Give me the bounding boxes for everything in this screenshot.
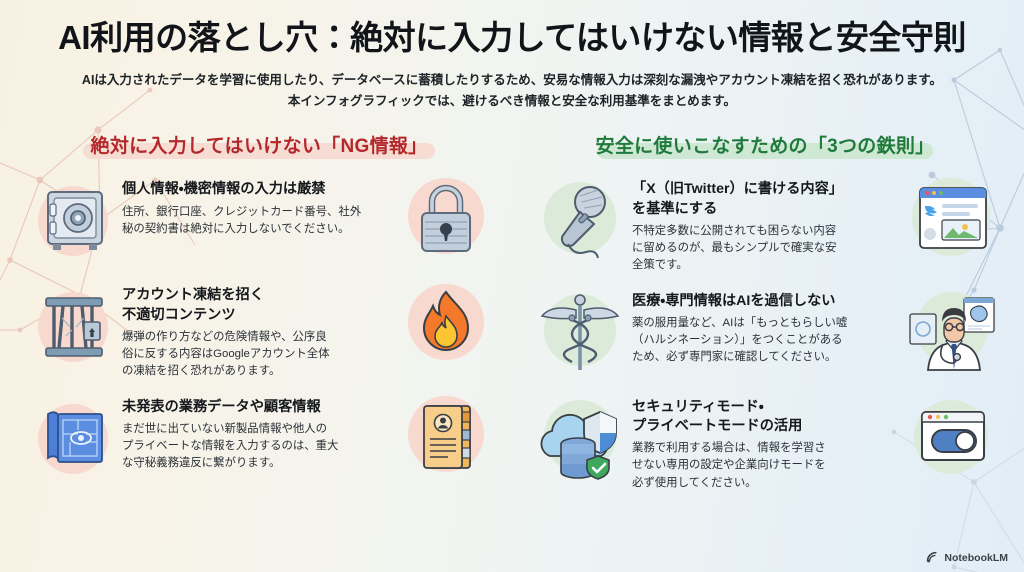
list-item: セキュリティモード・ プライベートモードの活用 業務で利用する場合は、情報を学習… xyxy=(532,390,998,492)
blueprint-icon xyxy=(26,390,122,486)
item-text: 医療・専門情報はAIを過信しない 薬の服用量など、AIは「もっともらしい嘘 （ハ… xyxy=(628,284,906,367)
column-heading-rules: 安全に使いこなすための「3つの鉄則」 xyxy=(532,131,998,158)
list-item: 「X（旧Twitter）に書ける内容」 を基準にする 不特定多数に公開されても困… xyxy=(532,172,998,274)
footer-watermark: NotebookLM xyxy=(926,551,1008,564)
list-item: 医療・専門情報はAIを過信しない 薬の服用量など、AIは「もっともらしい嘘 （ハ… xyxy=(532,284,998,380)
item-text: 個人情報・機密情報の入力は厳禁 住所、銀行口座、クレジットカード番号、社外 秘の… xyxy=(122,172,400,237)
flame-icon xyxy=(400,278,492,370)
list-item: 未発表の業務データや顧客情報 まだ世に出ていない新製品情報や他人の プライベート… xyxy=(26,390,492,486)
microphone-icon xyxy=(532,172,628,268)
footer-brand-name: NotebookLM xyxy=(944,552,1008,564)
item-title: 「X（旧Twitter）に書ける内容」 を基準にする xyxy=(632,180,906,218)
column-safety-rules: 安全に使いこなすための「3つの鉄則」 「X（旧Twitter）に書ける内 xyxy=(532,131,998,501)
item-title: 医療・専門情報はAIを過信しない xyxy=(632,292,906,311)
item-title: アカウント凍結を招く 不適切コンテンツ xyxy=(122,286,400,324)
padlock-icon xyxy=(400,172,492,264)
item-text: アカウント凍結を招く 不適切コンテンツ 爆弾の作り方などの危険情報や、公序良 俗… xyxy=(122,278,400,380)
page-title: AI利用の落とし穴：絶対に入力してはいけない情報と安全守則 xyxy=(0,18,1024,58)
item-text: セキュリティモード・ プライベートモードの活用 業務で利用する場合は、情報を学習… xyxy=(628,390,906,492)
subtitle-line-2: 本インフォグラフィックでは、避けるべき情報と安全な利用基準をまとめます。 xyxy=(0,91,1024,113)
page-subtitle: AIは入力されたデータを学習に使用したり、データベースに蓄積したりするため、安易… xyxy=(0,70,1024,114)
subtitle-line-1: AIは入力されたデータを学習に使用したり、データベースに蓄積したりするため、安易… xyxy=(0,70,1024,92)
prison-bars-icon xyxy=(26,278,122,374)
column-heading-ng: 絶対に入力してはいけない「NG情報」 xyxy=(26,131,492,158)
list-item: 個人情報・機密情報の入力は厳禁 住所、銀行口座、クレジットカード番号、社外 秘の… xyxy=(26,172,492,268)
cloud-database-shield-icon xyxy=(532,390,628,486)
safe-vault-icon xyxy=(26,172,122,268)
item-body: 薬の服用量など、AIは「もっともらしい嘘 （ハルシネーション）」をつくことがある… xyxy=(632,315,906,366)
item-title: 未発表の業務データや顧客情報 xyxy=(122,398,400,417)
column-heading-text: 絶対に入力してはいけない「NG情報」 xyxy=(91,136,428,157)
item-body: 不特定多数に公開されても困らない内容 に留めるのが、最もシンプルで確実な安 全策… xyxy=(632,223,906,274)
item-body: 住所、銀行口座、クレジットカード番号、社外 秘の契約書は絶対に入力しないでくださ… xyxy=(122,204,400,238)
column-ng-information: 絶対に入力してはいけない「NG情報」 個人情報・機密情報の xyxy=(26,131,492,501)
customer-file-icon xyxy=(400,390,492,482)
page-header: AI利用の落とし穴：絶対に入力してはいけない情報と安全守則 AIは入力されたデー… xyxy=(0,0,1024,113)
list-item: アカウント凍結を招く 不適切コンテンツ 爆弾の作り方などの危険情報や、公序良 俗… xyxy=(26,278,492,380)
toggle-window-icon xyxy=(906,390,998,482)
item-body: 爆弾の作り方などの危険情報や、公序良 俗に反する内容はGoogleアカウント全体… xyxy=(122,329,400,380)
column-heading-text: 安全に使いこなすための「3つの鉄則」 xyxy=(596,136,935,157)
item-title: 個人情報・機密情報の入力は厳禁 xyxy=(122,180,400,199)
caduceus-icon xyxy=(532,284,628,380)
item-body: 業務で利用する場合は、情報を学習さ せない専用の設定や企業向けモードを 必ず使用… xyxy=(632,440,906,491)
item-text: 未発表の業務データや顧客情報 まだ世に出ていない新製品情報や他人の プライベート… xyxy=(122,390,400,473)
item-title: セキュリティモード・ プライベートモードの活用 xyxy=(632,398,906,436)
item-text: 「X（旧Twitter）に書ける内容」 を基準にする 不特定多数に公開されても困… xyxy=(628,172,906,274)
notebooklm-logo-icon xyxy=(926,551,939,564)
content-columns: 絶対に入力してはいけない「NG情報」 個人情報・機密情報の xyxy=(0,113,1024,501)
social-post-window-icon xyxy=(906,172,998,264)
item-body: まだ世に出ていない新製品情報や他人の プライベートな情報を入力するのは、重大 な… xyxy=(122,421,400,472)
doctor-icon xyxy=(906,284,998,376)
